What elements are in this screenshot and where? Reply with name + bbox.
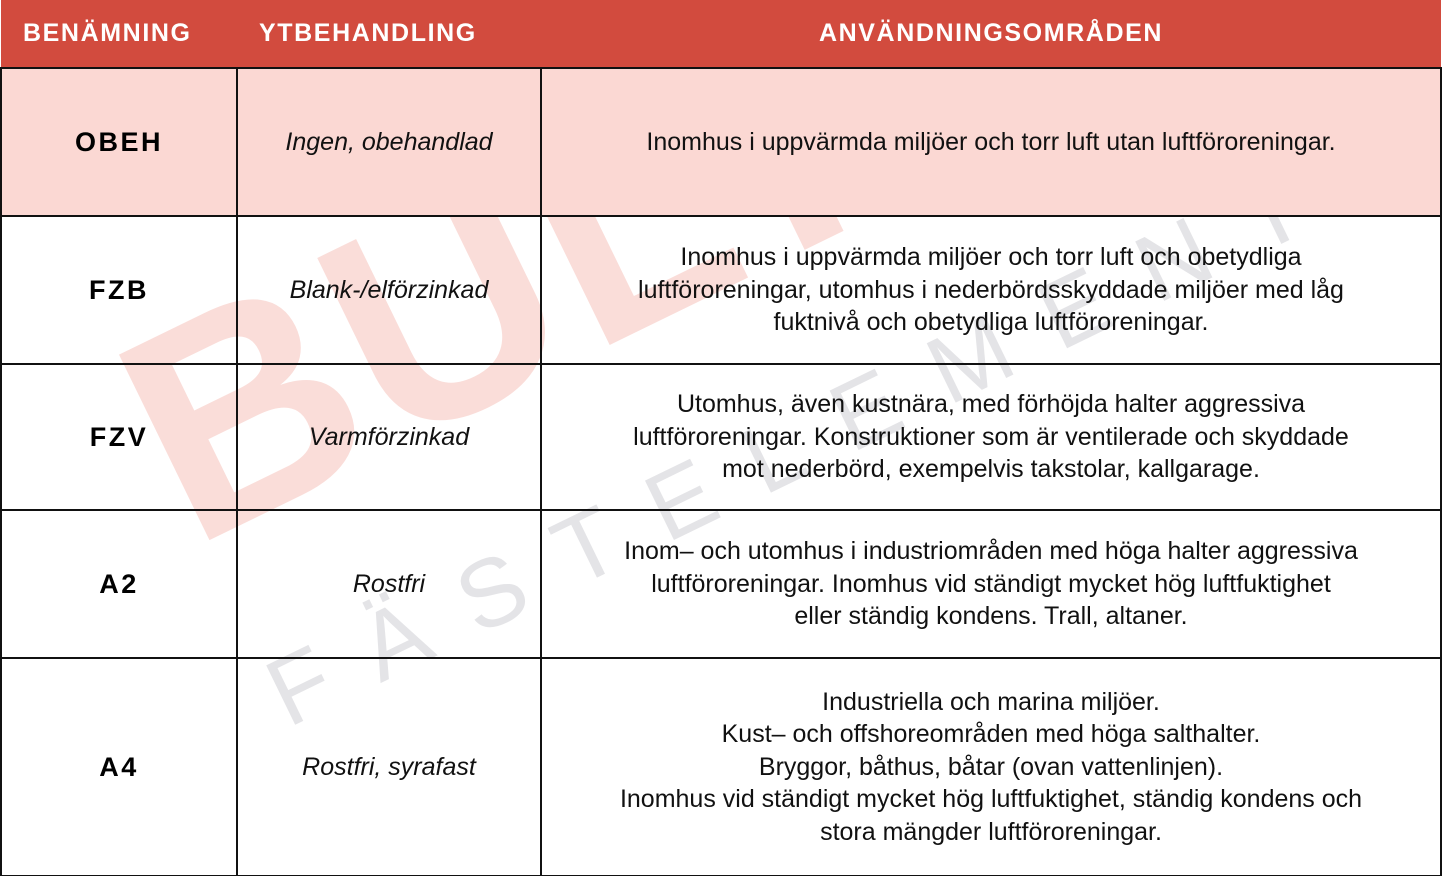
cell-usage-areas: Utomhus, även kustnära, med förhöjda hal… bbox=[541, 364, 1441, 510]
table-row: FZV Varmförzinkad Utomhus, även kustnära… bbox=[1, 364, 1441, 510]
table-body: OBEH Ingen, obehandlad Inomhus i uppvärm… bbox=[1, 68, 1441, 876]
cell-surface-treatment: Rostfri bbox=[237, 510, 541, 658]
table-head: BENÄMNING YTBEHANDLING ANVÄNDNINGSOMRÅDE… bbox=[1, 0, 1441, 68]
cell-usage-areas: Inomhus i uppvärmda miljöer och torr luf… bbox=[541, 216, 1441, 364]
table-header-row: BENÄMNING YTBEHANDLING ANVÄNDNINGSOMRÅDE… bbox=[1, 0, 1441, 68]
cell-code: FZV bbox=[1, 364, 237, 510]
cell-usage-areas: Inom– och utomhus i industriområden med … bbox=[541, 510, 1441, 658]
table-row: A2 Rostfri Inom– och utomhus i industrio… bbox=[1, 510, 1441, 658]
column-header-ytbehandling: YTBEHANDLING bbox=[237, 0, 541, 68]
cell-surface-treatment: Ingen, obehandlad bbox=[237, 68, 541, 216]
cell-usage-areas: Inomhus i uppvärmda miljöer och torr luf… bbox=[541, 68, 1441, 216]
table-row: A4 Rostfri, syrafast Industriella och ma… bbox=[1, 658, 1441, 876]
cell-usage-areas: Industriella och marina miljöer. Kust– o… bbox=[541, 658, 1441, 876]
column-header-benamning: BENÄMNING bbox=[1, 0, 237, 68]
cell-code: A2 bbox=[1, 510, 237, 658]
table-row: FZB Blank-/elförzinkad Inomhus i uppvärm… bbox=[1, 216, 1441, 364]
cell-code: OBEH bbox=[1, 68, 237, 216]
cell-surface-treatment: Varmförzinkad bbox=[237, 364, 541, 510]
cell-surface-treatment: Rostfri, syrafast bbox=[237, 658, 541, 876]
table-row: OBEH Ingen, obehandlad Inomhus i uppvärm… bbox=[1, 68, 1441, 216]
surface-treatment-table: BENÄMNING YTBEHANDLING ANVÄNDNINGSOMRÅDE… bbox=[0, 0, 1442, 876]
page-root: BULTAB FÄSTELEMENT BENÄMNING YTBEHANDLIN… bbox=[0, 0, 1442, 876]
cell-code: FZB bbox=[1, 216, 237, 364]
cell-surface-treatment: Blank-/elförzinkad bbox=[237, 216, 541, 364]
cell-code: A4 bbox=[1, 658, 237, 876]
column-header-anvandningsomraden: ANVÄNDNINGSOMRÅDEN bbox=[541, 0, 1441, 68]
